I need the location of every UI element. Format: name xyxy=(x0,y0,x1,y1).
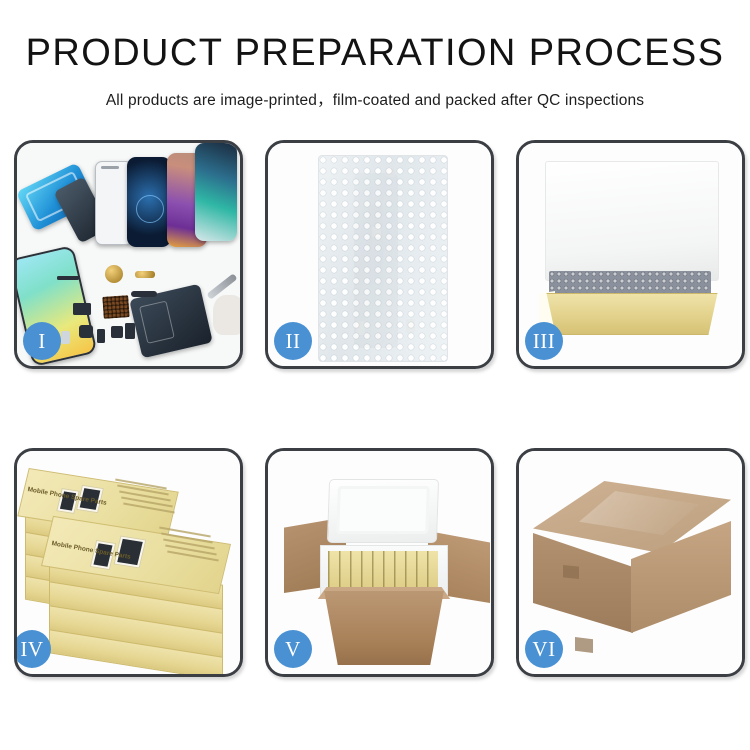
step-panel-4[interactable]: Mobile Phone Spare Parts Mobile Phone Sp… xyxy=(14,448,243,677)
grid-chip-component xyxy=(102,295,129,319)
carton-tape-upper xyxy=(563,565,579,579)
step-panel-5[interactable]: V xyxy=(265,448,494,677)
step-panel-3[interactable]: III xyxy=(516,140,745,369)
step-panel-1[interactable]: I xyxy=(14,140,243,369)
bubble-bag xyxy=(318,155,448,362)
flex-cable-small xyxy=(131,291,157,297)
shipping-carton-open xyxy=(316,591,452,665)
bracket-part xyxy=(73,303,91,315)
small-ic-part xyxy=(111,326,123,338)
phone-teal-display xyxy=(195,143,237,241)
gold-flex-cable xyxy=(135,271,155,278)
step-badge-4: IV xyxy=(14,630,51,668)
step-panel-6[interactable]: VI xyxy=(516,448,745,677)
step-badge-1: I xyxy=(23,322,61,360)
step-badge-2: II xyxy=(274,322,312,360)
steps-grid: I II xyxy=(14,140,748,683)
foam-lid xyxy=(327,479,439,543)
camera-module xyxy=(79,325,93,338)
yellow-mailer-box xyxy=(541,293,723,335)
step-badge-6: VI xyxy=(525,630,563,668)
step-panel-2[interactable]: II xyxy=(265,140,494,369)
packed-retail-boxes xyxy=(328,551,438,591)
step-badge-3: III xyxy=(525,322,563,360)
page-title: PRODUCT PREPARATION PROCESS xyxy=(0,34,750,72)
box-lid-open xyxy=(545,161,719,281)
technician-hand xyxy=(213,295,243,335)
carton-tape-lower xyxy=(575,637,593,653)
box-stack: Mobile Phone Spare Parts Mobile Phone Sp… xyxy=(19,473,243,663)
product-preparation-infographic: PRODUCT PREPARATION PROCESS All products… xyxy=(0,0,750,750)
sim-tray xyxy=(61,331,70,344)
step-4-image: Mobile Phone Spare Parts Mobile Phone Sp… xyxy=(17,451,240,674)
header: PRODUCT PREPARATION PROCESS All products… xyxy=(0,34,750,110)
step-badge-5: V xyxy=(274,630,312,668)
page-subtitle: All products are image-printed，film-coat… xyxy=(0,88,750,110)
chip-strip xyxy=(57,276,79,280)
speaker-component xyxy=(105,265,123,283)
connector-part xyxy=(125,323,135,339)
phone-navy-display xyxy=(127,157,171,247)
pin-part xyxy=(97,329,105,343)
